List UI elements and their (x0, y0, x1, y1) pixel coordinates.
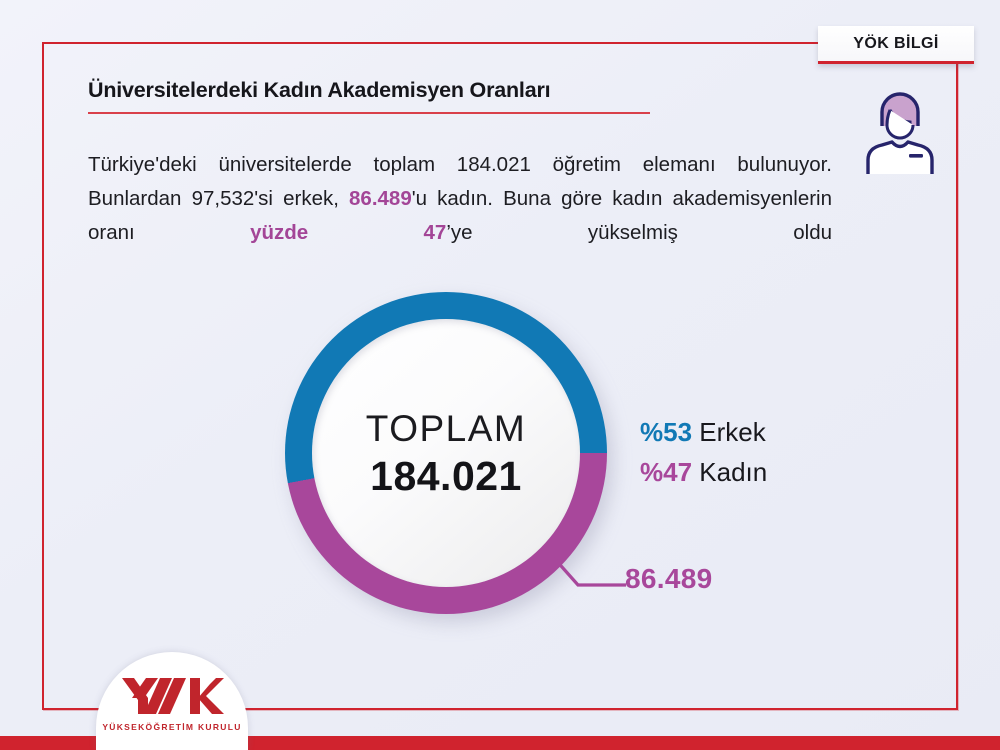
page-title: Üniversitelerdeki Kadın Akademisyen Oran… (88, 78, 650, 103)
yok-bilgi-badge-label: YÖK BİLGİ (853, 35, 938, 53)
paragraph-highlight-women-count: 86.489 (349, 187, 412, 210)
title-underline-rule (88, 112, 650, 114)
legend-female-percent: %47 (640, 457, 692, 487)
summary-paragraph: Türkiye'deki üniversitelerde toplam 184.… (88, 148, 832, 284)
donut-center-plate: TOPLAM 184.021 (312, 319, 580, 587)
heading-block: Üniversitelerdeki Kadın Akademisyen Oran… (88, 78, 650, 114)
yok-bilgi-badge: YÖK BİLGİ (818, 26, 974, 64)
callout-leader-line (540, 548, 630, 598)
yok-logo-text: YÜKSEKÖĞRETİM KURULU (102, 722, 241, 732)
donut-center-value: 184.021 (370, 456, 522, 497)
legend-male-percent: %53 (640, 417, 692, 447)
avatar-pocket-badge (909, 154, 923, 158)
chart-legend: %53 Erkek %47 Kadın (640, 412, 767, 492)
legend-female-label: Kadın (692, 457, 767, 487)
callout-women-count: 86.489 (625, 563, 712, 595)
paragraph-highlight-percent: yüzde 47 (250, 221, 446, 244)
legend-item-female: %47 Kadın (640, 452, 767, 492)
legend-item-male: %53 Erkek (640, 412, 767, 452)
donut-center-label: TOPLAM (366, 410, 526, 447)
yok-logo-icon (120, 674, 224, 718)
legend-male-label: Erkek (692, 417, 766, 447)
female-academic-avatar-icon (852, 82, 948, 178)
paragraph-text-part3: ’ye yükselmiş oldu (446, 221, 832, 244)
